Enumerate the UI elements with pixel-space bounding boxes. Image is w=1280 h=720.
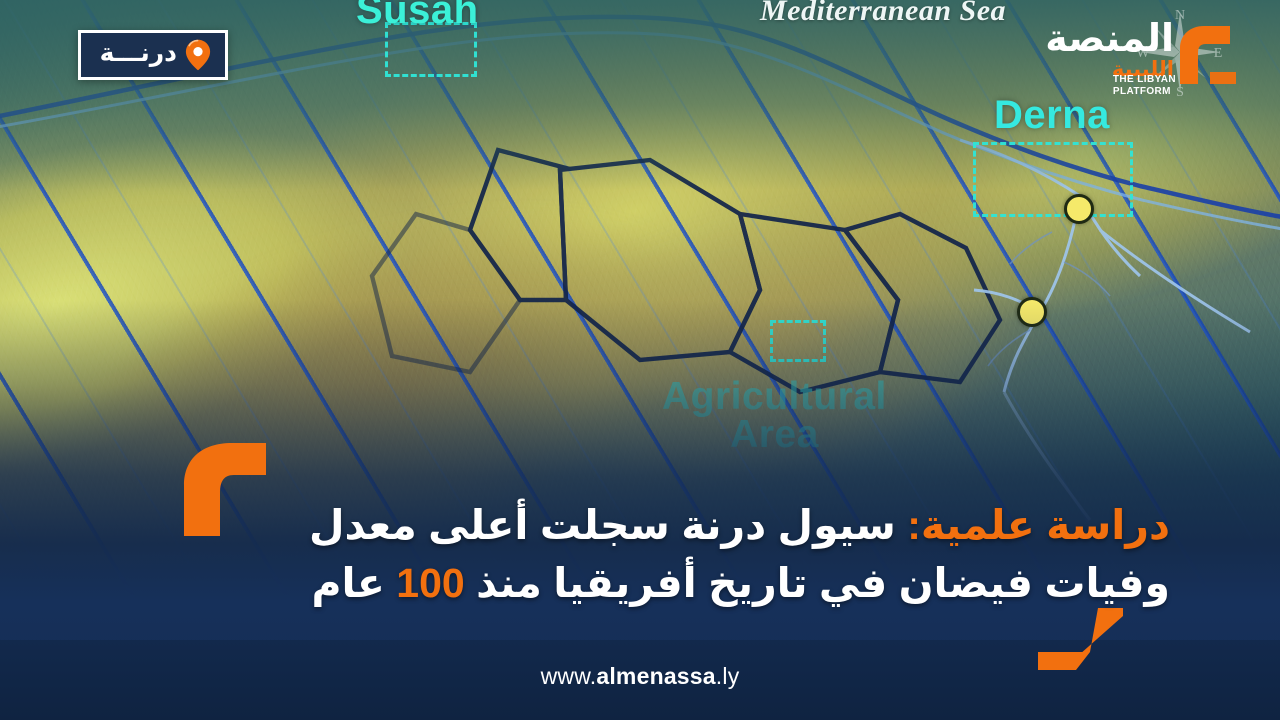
logo-wordmark: المنصة الليبية THE LIBYAN PLATFORM <box>1045 22 1174 80</box>
watershed-basins <box>372 150 1000 392</box>
logo-arabic-primary: المنصة <box>1045 22 1174 57</box>
location-badge-label: درنـــة <box>100 41 177 69</box>
quote-close-icon <box>1028 608 1123 670</box>
logo-english-line2: PLATFORM <box>1113 86 1176 98</box>
study-box-derna <box>973 142 1133 217</box>
logo-quote-mark-icon <box>1170 24 1240 86</box>
headline-part2: عام <box>311 560 396 606</box>
map-label-agricultural-line1: Agricultural <box>662 378 887 416</box>
headline-number: 100 <box>396 560 464 606</box>
site-url-name: almenassa <box>596 663 715 689</box>
map-label-derna: Derna <box>994 93 1110 138</box>
dam-marker-upper <box>1064 194 1094 224</box>
location-badge[interactable]: درنـــة <box>78 30 228 80</box>
logo-english-tagline: THE LIBYAN PLATFORM <box>1113 74 1176 97</box>
map-label-agricultural-line2: Area <box>662 416 887 454</box>
social-card: Susah Derna Mediterranean Sea Agricultur… <box>0 0 1280 720</box>
study-box-agricultural <box>770 320 826 362</box>
site-url[interactable]: www.almenassa.ly <box>0 663 1280 690</box>
map-label-agricultural-area: Agricultural Area <box>662 378 887 454</box>
location-pin-icon <box>185 39 211 71</box>
map-label-susah: Susah <box>356 0 479 33</box>
site-url-prefix: www. <box>541 663 597 689</box>
logo-english-line1: THE LIBYAN <box>1113 74 1176 86</box>
compass-label-north: N <box>1175 8 1185 23</box>
headline: دراسة علمية: سيول درنة سجلت أعلى معدل وف… <box>190 496 1170 612</box>
dam-marker-lower <box>1017 297 1047 327</box>
site-url-tld: .ly <box>716 663 740 689</box>
map-label-mediterranean-sea: Mediterranean Sea <box>760 0 1006 28</box>
brand-logo[interactable]: N E S W المنصة الليبية THE LIBYAN PLATFO… <box>1018 6 1248 98</box>
compass-label-south: S <box>1176 85 1184 98</box>
headline-lead: دراسة علمية: <box>907 502 1170 548</box>
